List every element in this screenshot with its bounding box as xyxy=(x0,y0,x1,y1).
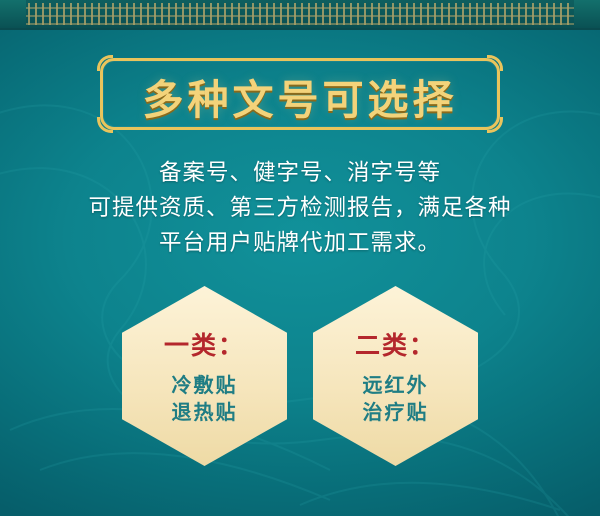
description-line-3: 平台用户贴牌代加工需求。 xyxy=(30,226,570,261)
card-line-2: 治疗贴 xyxy=(363,399,429,426)
description-line-1: 备案号、健字号、消字号等 xyxy=(30,156,570,191)
poster-canvas: 多种文号可选择 备案号、健字号、消字号等 可提供资质、第三方检测报告，满足各种 … xyxy=(0,0,600,516)
description-block: 备案号、健字号、消字号等 可提供资质、第三方检测报告，满足各种 平台用户贴牌代加… xyxy=(30,156,570,261)
card-line-1: 远红外 xyxy=(363,372,429,399)
page-title: 多种文号可选择 xyxy=(100,66,500,126)
band-pattern xyxy=(0,3,600,25)
category-cards: 一类： 冷敷贴 退热贴 二类： 远红外 治疗贴 xyxy=(0,286,600,466)
category-card-one: 一类： 冷敷贴 退热贴 xyxy=(122,286,287,466)
card-line-1: 冷敷贴 xyxy=(172,372,238,399)
title-frame: 多种文号可选择 xyxy=(100,58,500,130)
band-edge-left xyxy=(0,0,26,28)
description-line-2: 可提供资质、第三方检测报告，满足各种 xyxy=(30,191,570,226)
hexagon-content: 一类： 冷敷贴 退热贴 xyxy=(122,286,287,466)
category-card-two: 二类： 远红外 治疗贴 xyxy=(313,286,478,466)
card-heading: 一类： xyxy=(164,326,245,362)
card-line-2: 退热贴 xyxy=(172,399,238,426)
band-edge-right xyxy=(574,0,600,28)
top-ornament-band xyxy=(0,0,600,30)
card-heading: 二类： xyxy=(355,326,436,362)
hexagon-content: 二类： 远红外 治疗贴 xyxy=(313,286,478,466)
